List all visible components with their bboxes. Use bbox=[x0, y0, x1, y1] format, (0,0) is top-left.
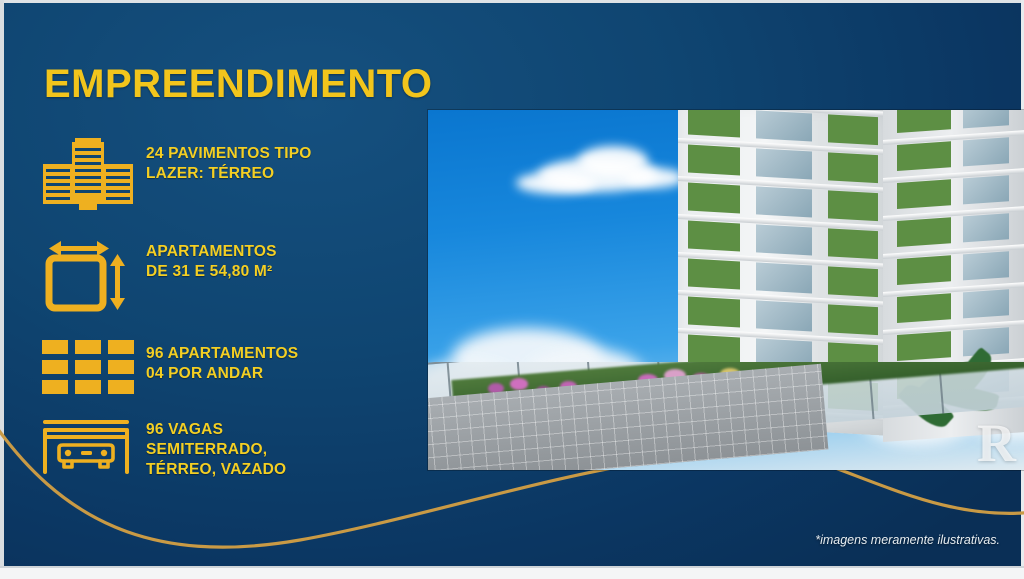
slide-frame-left bbox=[0, 0, 4, 579]
feature-text-apartamentos: 96 APARTAMENTOS 04 POR ANDAR bbox=[142, 338, 298, 384]
photo-watermark: R bbox=[977, 419, 1016, 468]
feature-list: 24 PAVIMENTOS TIPO LAZER: TÉRREO bbox=[34, 138, 424, 501]
feature-text-vagas: 96 VAGAS SEMITERRADO, TÉRREO, VAZADO bbox=[142, 414, 286, 479]
page-title: EMPREENDIMENTO bbox=[44, 62, 433, 107]
apartment-grid-icon bbox=[34, 338, 142, 396]
feature-item-vagas: 96 VAGAS SEMITERRADO, TÉRREO, VAZADO bbox=[34, 414, 424, 479]
feature-item-pavimentos: 24 PAVIMENTOS TIPO LAZER: TÉRREO bbox=[34, 138, 424, 210]
slide-frame-bottom bbox=[0, 568, 1024, 579]
buildings-icon bbox=[34, 138, 142, 210]
feature-text-pavimentos: 24 PAVIMENTOS TIPO LAZER: TÉRREO bbox=[142, 138, 312, 184]
slide-frame-top bbox=[0, 0, 1024, 3]
garage-car-icon bbox=[34, 414, 142, 476]
podium-glass-railing bbox=[428, 362, 1024, 470]
building-render-photo: R bbox=[428, 110, 1024, 470]
feature-item-apartamentos: 96 APARTAMENTOS 04 POR ANDAR bbox=[34, 338, 424, 396]
presentation-slide: EMPREENDIMENTO bbox=[0, 0, 1024, 579]
area-dimensions-icon bbox=[34, 236, 142, 316]
feature-text-area: APARTAMENTOS DE 31 E 54,80 M² bbox=[142, 236, 277, 282]
feature-item-area: APARTAMENTOS DE 31 E 54,80 M² bbox=[34, 236, 424, 316]
disclaimer-text: *imagens meramente ilustrativas. bbox=[815, 533, 1000, 547]
